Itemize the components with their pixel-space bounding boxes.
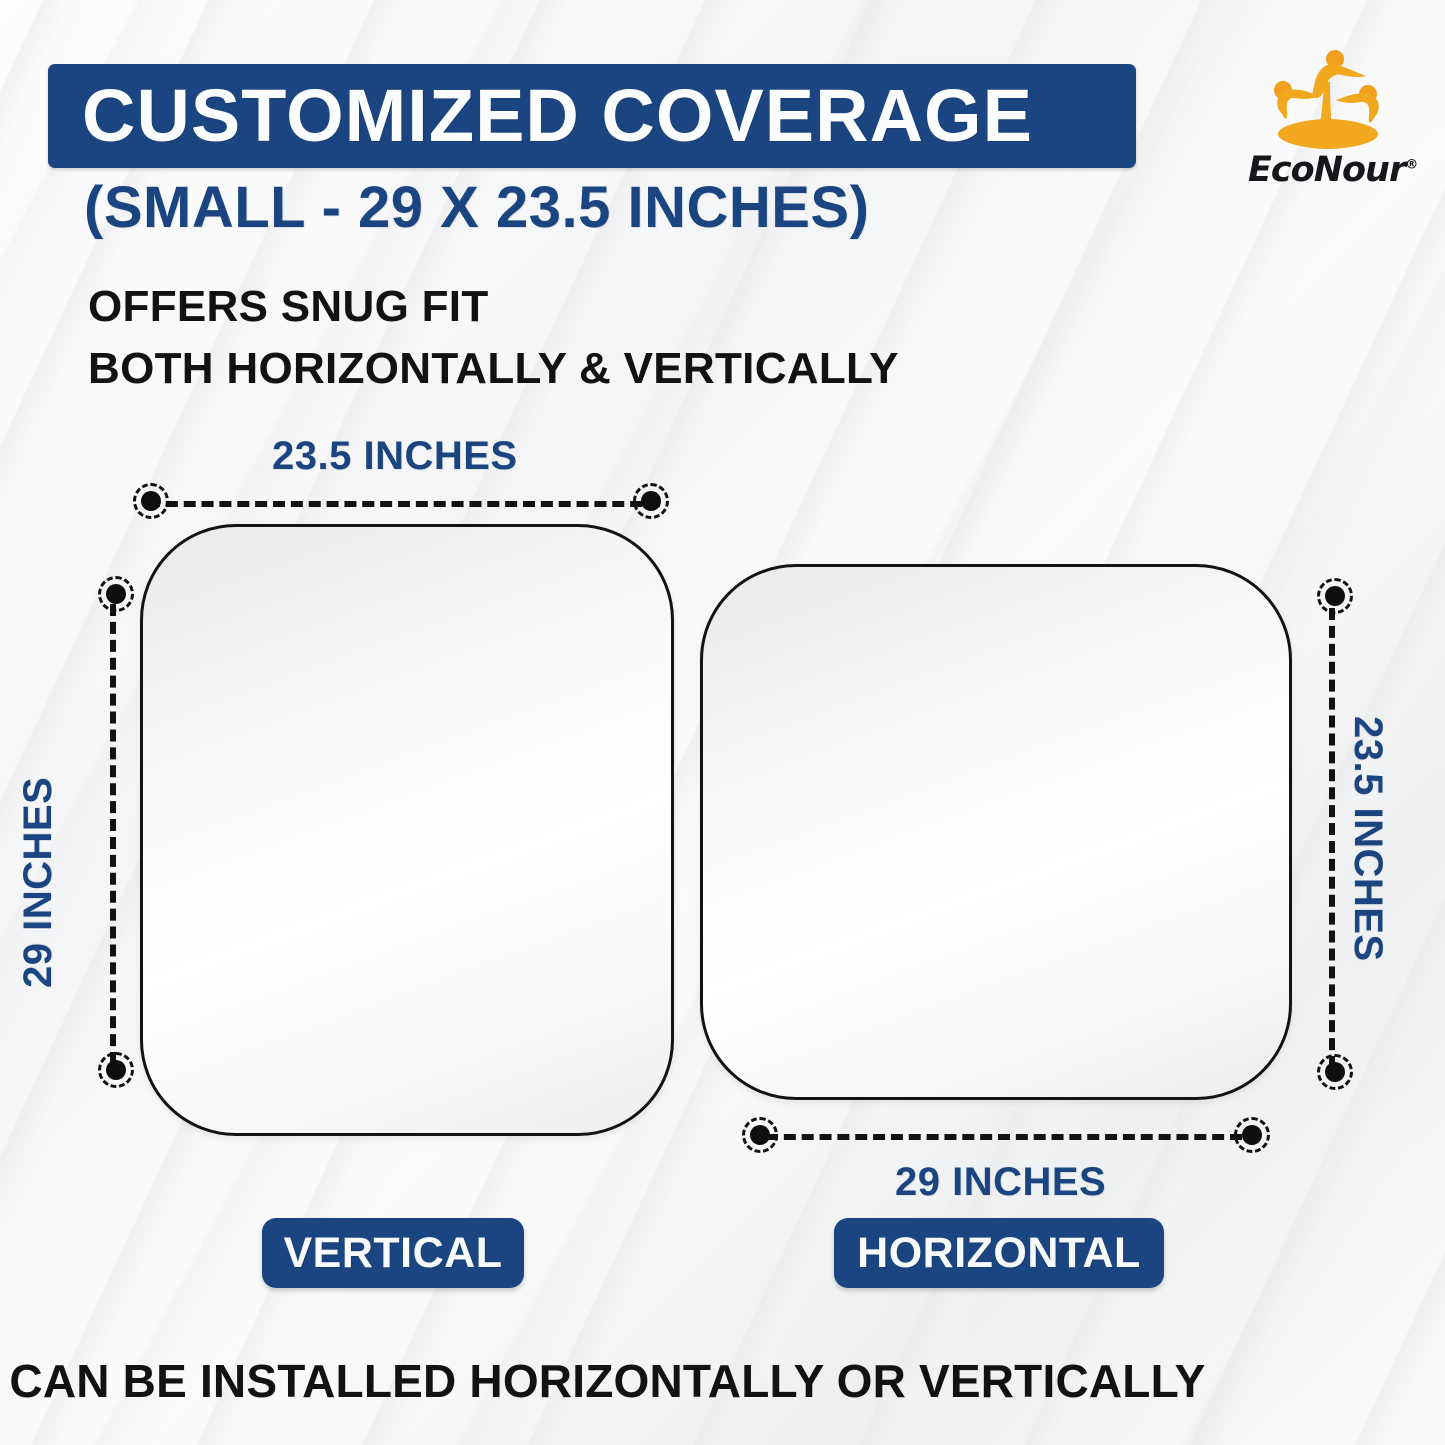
page-subtitle: (SMALL - 29 X 23.5 INCHES) — [84, 179, 869, 237]
orientation-button-vertical-label: VERTICAL — [284, 1232, 503, 1275]
feature-line-2: BOTH HORIZONTALLY & VERTICALLY — [88, 347, 899, 391]
vertical-width-marker-left — [133, 483, 169, 519]
brand-logo: EcoNour® — [1248, 46, 1408, 198]
vertical-height-dimension-line — [110, 604, 116, 1064]
horizontal-width-label: 29 INCHES — [895, 1162, 1106, 1202]
brand-name: EcoNour® — [1248, 150, 1408, 190]
feature-line-1: OFFERS SNUG FIT — [88, 285, 489, 329]
brand-name-text: EcoNour — [1248, 150, 1405, 190]
page-title-banner: CUSTOMIZED COVERAGE — [48, 64, 1136, 168]
vertical-width-marker-right — [633, 483, 669, 519]
horizontal-width-marker-right — [1234, 1117, 1270, 1153]
vertical-height-marker-top — [98, 576, 134, 612]
orientation-button-vertical[interactable]: VERTICAL — [262, 1218, 524, 1288]
vertical-width-dimension-line — [148, 501, 660, 507]
horizontal-height-marker-top — [1317, 578, 1353, 614]
sunshade-vertical-shape — [140, 524, 674, 1136]
vertical-width-label: 23.5 INCHES — [272, 436, 518, 476]
orientation-button-horizontal[interactable]: HORIZONTAL — [834, 1218, 1164, 1288]
three-figures-tree-icon — [1262, 46, 1394, 154]
horizontal-width-marker-left — [742, 1117, 778, 1153]
horizontal-height-dimension-line — [1329, 608, 1335, 1068]
sunshade-horizontal-shape — [700, 564, 1292, 1100]
horizontal-height-label: 23.5 INCHES — [1348, 716, 1388, 962]
vertical-height-marker-bottom — [98, 1052, 134, 1088]
footer-caption: CAN BE INSTALLED HORIZONTALLY OR VERTICA… — [0, 1358, 1215, 1404]
trademark-symbol: ® — [1405, 157, 1417, 172]
page-title: CUSTOMIZED COVERAGE — [48, 79, 1033, 153]
orientation-button-horizontal-label: HORIZONTAL — [857, 1232, 1141, 1275]
vertical-height-label: 29 INCHES — [18, 777, 58, 988]
horizontal-height-marker-bottom — [1317, 1054, 1353, 1090]
horizontal-width-dimension-line — [766, 1134, 1242, 1140]
